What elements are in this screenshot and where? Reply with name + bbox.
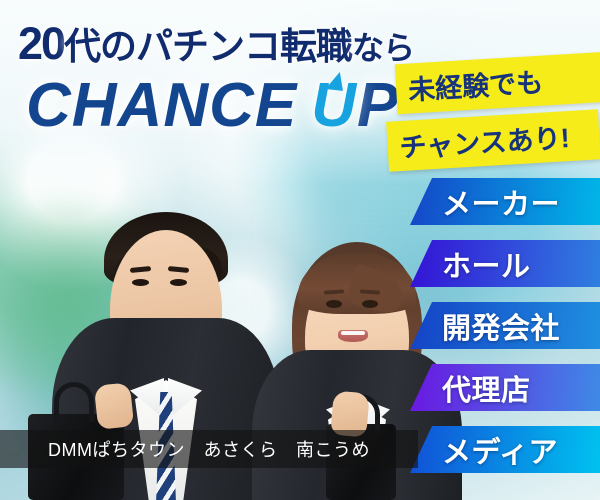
- man-eye-right: [170, 279, 187, 286]
- badge-line-1: 未経験でも: [395, 52, 600, 114]
- headline-middle: 代のパチンコ転職: [64, 26, 352, 67]
- logo-word-chance: CHANCE: [26, 71, 297, 140]
- experience-badge: 未経験でも チャンスあり!: [396, 58, 600, 158]
- category-label: 代理店: [442, 367, 531, 409]
- headline: 20代のパチンコ転職なら: [18, 16, 414, 70]
- recruitment-banner[interactable]: 20代のパチンコ転職なら CHANCEUP 未経験でも チャンスあり! メーカー…: [0, 0, 600, 500]
- logo-letter-u: U: [311, 70, 357, 141]
- man-eye-left: [132, 279, 149, 286]
- category-label: メーカー: [442, 181, 560, 223]
- category-button-hall[interactable]: ホール: [410, 240, 600, 287]
- category-button-media[interactable]: メディア: [410, 426, 600, 473]
- category-button-developer[interactable]: 開発会社: [410, 302, 600, 349]
- category-button-maker[interactable]: メーカー: [410, 178, 600, 225]
- briefcase-handle-left: [54, 382, 94, 422]
- caption-bar: DMMぱちタウン あさくら 南こうめ: [0, 430, 418, 468]
- hand-left: [94, 382, 134, 430]
- logo-chance-up: CHANCEUP: [26, 70, 399, 141]
- headline-number: 20: [18, 18, 64, 69]
- woman-eye-left: [326, 300, 342, 308]
- category-button-agency[interactable]: 代理店: [410, 364, 600, 411]
- category-label: メディア: [442, 429, 558, 471]
- category-list: メーカー ホール 開発会社 代理店 メディア: [410, 178, 600, 488]
- woman-mouth: [338, 330, 368, 342]
- woman-eye-right: [362, 300, 378, 308]
- caption-text: DMMぱちタウン あさくら 南こうめ: [48, 436, 370, 462]
- category-label: ホール: [442, 243, 531, 285]
- category-label: 開発会社: [442, 305, 560, 347]
